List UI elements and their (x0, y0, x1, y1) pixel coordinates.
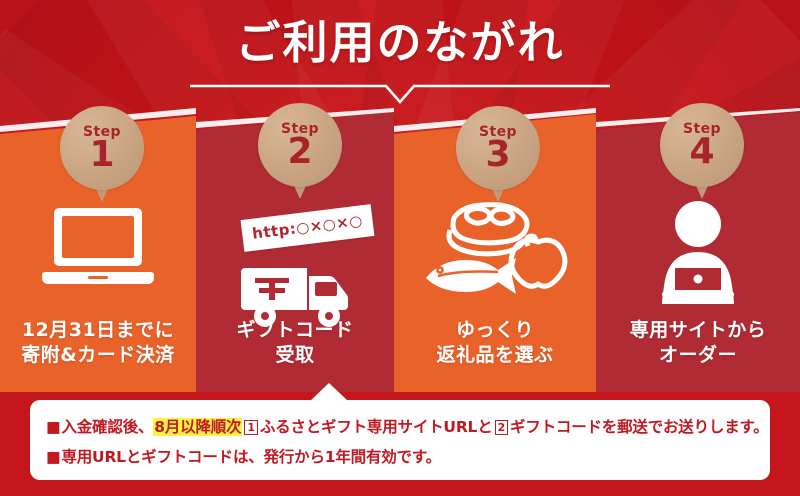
note-1-part2: ふるさとギフト専用サイトURLと (260, 418, 493, 436)
step-caption-3-line1: ゆっくり (394, 318, 596, 343)
notes-card: ■入金確認後、8月以降順次1ふるさとギフト専用サイトURLと2ギフトコードを郵送… (30, 400, 770, 480)
step-caption-3: ゆっくり 返礼品を選ぶ (394, 318, 596, 368)
step-caption-4: 専用サイトから オーダー (596, 318, 800, 368)
note-1-bullet: ■ (46, 418, 60, 436)
title-underline (190, 82, 610, 104)
step-caption-2: ギフトコード 受取 (196, 318, 394, 368)
step-caption-1: 12月31日までに 寄附&カード決済 (0, 318, 196, 368)
step-caption-2-line2: 受取 (196, 343, 394, 368)
page-title-text: ご利用のながれ (0, 18, 800, 68)
note-1-number-1: 1 (244, 420, 257, 435)
step-badge-1: Step 1 (60, 106, 144, 190)
step-badge-2: Step 2 (258, 103, 342, 187)
step-caption-2-line1: ギフトコード (196, 318, 394, 343)
footer-area: ■入金確認後、8月以降順次1ふるさとギフト専用サイトURLと2ギフトコードを郵送… (0, 392, 800, 496)
step-badge-3: Step 3 (456, 106, 540, 190)
notes-pointer (310, 383, 348, 401)
step-caption-1-line1: 12月31日までに (0, 318, 196, 343)
step-badge-4: Step 4 (660, 103, 744, 187)
food-gifts-icon (394, 196, 596, 308)
promo-graphic: ご利用のながれ 12月31日までに 寄附&カード決済 (0, 0, 800, 496)
badge-number: 4 (660, 134, 744, 170)
note-1-number-2: 2 (495, 420, 508, 435)
person-laptop-icon (596, 200, 800, 310)
note-1-highlight: 8月以降順次 (153, 418, 242, 436)
note-1-part1: 入金確認後、 (61, 418, 153, 436)
page-title: ご利用のながれ (0, 18, 800, 68)
step-caption-3-line2: 返礼品を選ぶ (394, 343, 596, 368)
note-2-text: 専用URLとギフトコードは、発行から1年間有効です。 (61, 448, 440, 466)
step-caption-4-line2: オーダー (596, 343, 800, 368)
note-2: ■専用URLとギフトコードは、発行から1年間有効です。 (46, 445, 441, 467)
note-2-bullet: ■ (46, 448, 60, 466)
note-1-part3: ギフトコードを郵送でお送りします。 (510, 418, 769, 436)
note-1: ■入金確認後、8月以降順次1ふるさとギフト専用サイトURLと2ギフトコードを郵送… (46, 415, 769, 437)
step-caption-4-line1: 専用サイトから (596, 318, 800, 343)
badge-number: 2 (258, 134, 342, 170)
badge-number: 3 (456, 137, 540, 173)
step-caption-1-line2: 寄附&カード決済 (0, 343, 196, 368)
badge-number: 1 (60, 137, 144, 173)
laptop-icon (0, 204, 196, 294)
